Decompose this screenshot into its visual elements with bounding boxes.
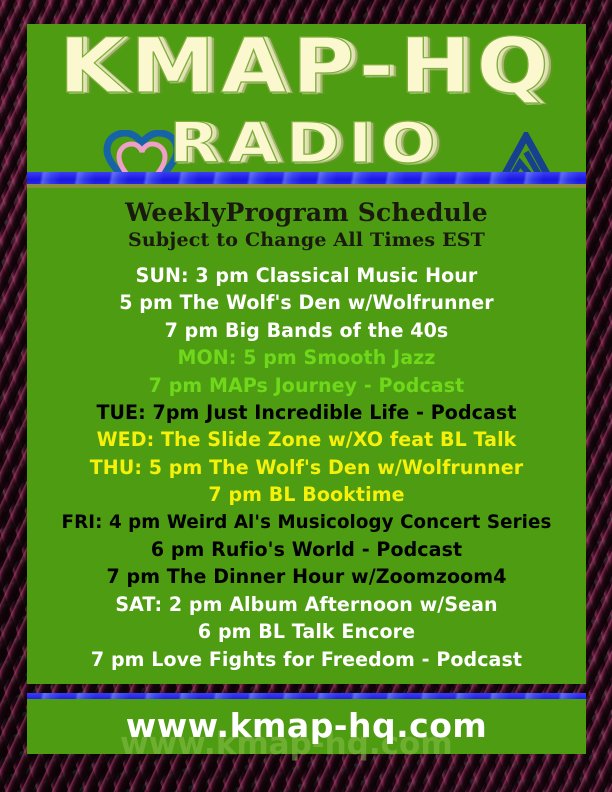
schedule-line: TUE: 7pm Just Incredible Life - Podcast — [33, 399, 581, 426]
schedule-subtitle: Subject to Change All Times EST — [27, 229, 586, 251]
schedule-line: 5 pm The Wolf's Den w/Wolfrunner — [33, 289, 581, 316]
schedule-line: 6 pm BL Talk Encore — [33, 618, 581, 645]
schedule-line: 7 pm MAPs Journey - Podcast — [33, 372, 581, 399]
station-name-text: KMAP-HQ — [0, 28, 612, 104]
schedule-line: 7 pm BL Booktime — [33, 481, 581, 508]
schedule-line: 7 pm The Dinner Hour w/Zoomzoom4 — [33, 563, 581, 590]
radio-schedule-poster: KMAP-HQ RADIO WeeklyProgram Schedule Sub… — [0, 0, 612, 792]
footer-website-url[interactable]: www.kmap-hq.com — [27, 706, 586, 745]
schedule-line: THU: 5 pm The Wolf's Den w/Wolfrunner — [33, 454, 581, 481]
station-logo-block: KMAP-HQ RADIO — [27, 24, 586, 173]
schedule-line: WED: The Slide Zone w/XO feat BL Talk — [33, 426, 581, 453]
schedule-line: 7 pm Love Fights for Freedom - Podcast — [33, 646, 581, 673]
schedule-line: SUN: 3 pm Classical Music Hour — [33, 262, 581, 289]
schedule-title: WeeklyProgram Schedule — [27, 198, 586, 227]
schedule-line: FRI: 4 pm Weird Al's Musicology Concert … — [33, 509, 581, 536]
schedule-line: SAT: 2 pm Album Afternoon w/Sean — [33, 591, 581, 618]
schedule-line: 6 pm Rufio's World - Podcast — [33, 536, 581, 563]
schedule-line-list: SUN: 3 pm Classical Music Hour 5 pm The … — [27, 262, 586, 673]
schedule-line: MON: 5 pm Smooth Jazz — [33, 344, 581, 371]
schedule-line: 7 pm Big Bands of the 40s — [33, 317, 581, 344]
